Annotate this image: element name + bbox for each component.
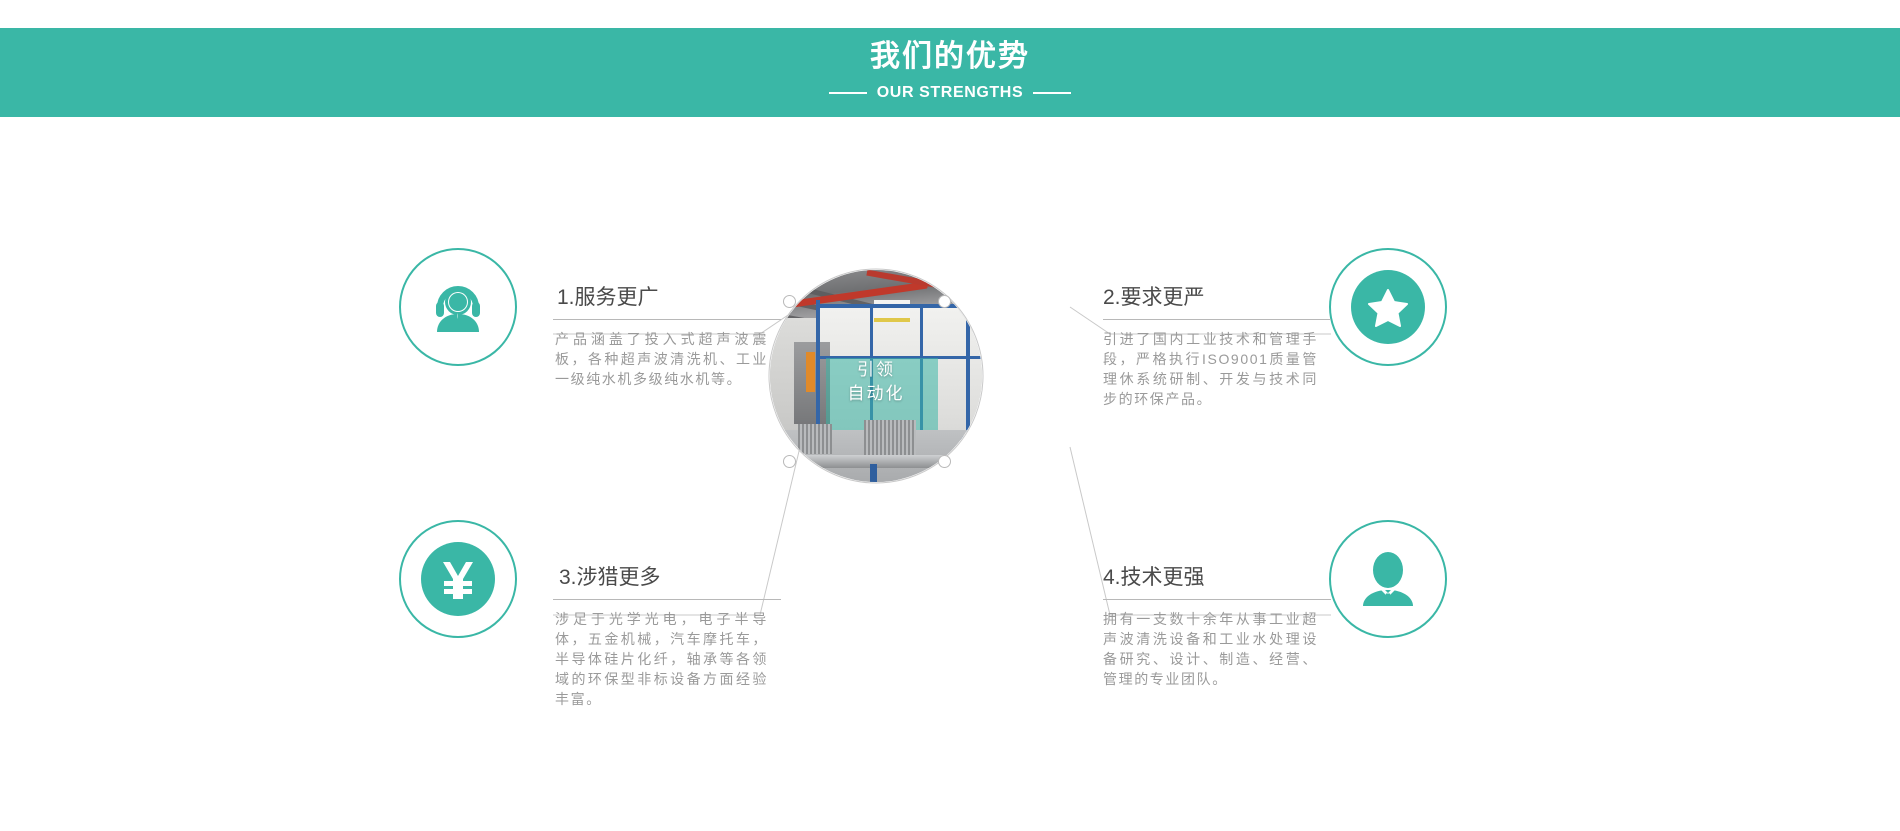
strength-body-3: 涉足于光学光电，电子半导体，五金机械，汽车摩托车，半导体硅片化纤，轴承等各领域的… — [553, 609, 768, 709]
strength-block-2: 2.要求更严 引进了国内工业技术和管理手段，严格执行ISO9001质量管理休系统… — [1103, 285, 1331, 409]
star-icon-disc — [1351, 270, 1425, 344]
photo-overlay-line-2: 自动化 — [770, 382, 982, 406]
subtitle-group: OUR STRENGTHS — [0, 85, 1900, 101]
strength-block-1: 1.服务更广 产品涵盖了投入式超声波震板，各种超声波清洗机、工业一级纯水机多级纯… — [553, 285, 781, 389]
page-title: 我们的优势 — [0, 28, 1900, 72]
section-header: 我们的优势 OUR STRENGTHS — [0, 28, 1900, 117]
subtitle-rule-right — [1033, 92, 1071, 94]
strength-divider-2 — [1103, 319, 1331, 320]
strength-body-4: 拥有一支数十余年从事工业超声波清洗设备和工业水处理设备研究、设计、制造、经营、管… — [1103, 609, 1318, 689]
our-strengths-section: 我们的优势 OUR STRENGTHS — [0, 0, 1900, 831]
photo-basket — [798, 424, 832, 454]
strength-block-4: 4.技术更强 拥有一支数十余年从事工业超声波清洗设备和工业水处理设备研究、设计、… — [1103, 565, 1331, 689]
strength-title-2: 2.要求更严 — [1103, 285, 1331, 310]
strength-block-3: 3.涉猎更多 涉足于光学光电，电子半导体，五金机械，汽车摩托车，半导体硅片化纤，… — [553, 565, 781, 709]
connector-node-top-left — [783, 295, 796, 308]
page-subtitle: OUR STRENGTHS — [877, 85, 1023, 101]
strength-divider-4 — [1103, 599, 1331, 600]
yen-icon-disc — [421, 542, 495, 616]
photo-conveyor-leg — [800, 464, 807, 482]
strength-icon-badge-3[interactable] — [399, 520, 517, 638]
strength-icon-badge-4[interactable] — [1329, 520, 1447, 638]
strength-title-3: 3.涉猎更多 — [553, 565, 781, 590]
photo-overlay-line-1: 引领 — [770, 358, 982, 382]
strength-icon-badge-2[interactable] — [1329, 248, 1447, 366]
strength-body-1: 产品涵盖了投入式超声波震板，各种超声波清洗机、工业一级纯水机多级纯水机等。 — [553, 329, 768, 389]
subtitle-rule-left — [829, 92, 867, 94]
star-icon — [1367, 286, 1409, 328]
photo-overlay-text: 引领 自动化 — [770, 358, 982, 406]
photo-conveyor-leg — [870, 464, 877, 482]
photo-basket — [864, 420, 916, 456]
strength-divider-1 — [553, 319, 781, 320]
strength-title-4: 4.技术更强 — [1103, 565, 1331, 590]
strength-body-2: 引进了国内工业技术和管理手段，严格执行ISO9001质量管理休系统研制、开发与技… — [1103, 329, 1318, 409]
connector-node-top-right — [938, 295, 951, 308]
strength-icon-badge-1[interactable] — [399, 248, 517, 366]
headset-support-icon — [423, 272, 493, 342]
connector-node-bottom-left — [783, 455, 796, 468]
businessman-icon — [1353, 544, 1423, 614]
photo-frame — [816, 304, 982, 308]
connector-node-bottom-right — [938, 455, 951, 468]
strength-divider-3 — [553, 599, 781, 600]
yen-currency-icon — [435, 556, 481, 602]
strength-title-1: 1.服务更广 — [553, 285, 781, 310]
strengths-diagram: 引领 自动化 1.服务更广 产品涵盖了投入式超声波震板，各种超声波清洗机、工业一… — [0, 117, 1900, 831]
